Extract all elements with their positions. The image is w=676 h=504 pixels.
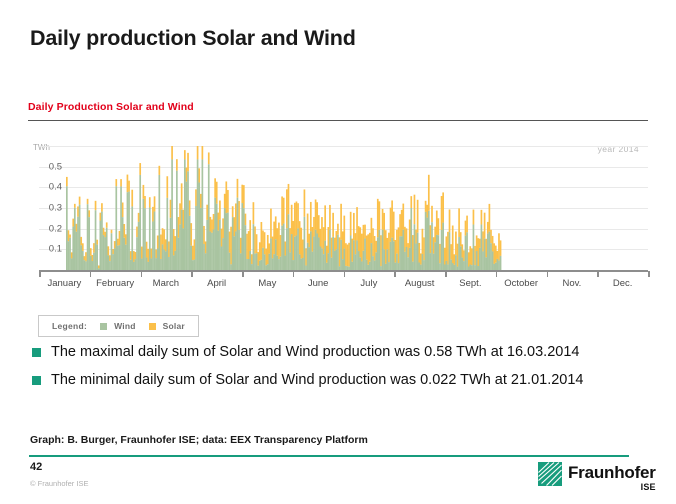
x-axis-tick	[547, 271, 549, 277]
y-axis-tick-label: 0.1	[28, 244, 62, 255]
x-axis-month-label: October	[504, 278, 538, 289]
x-axis-month-label: Nov.	[562, 278, 581, 289]
fraunhofer-logo-mark-icon	[538, 462, 562, 486]
bullet-list: The maximal daily sum of Solar and Wind …	[32, 343, 642, 399]
legend-label-solar: Solar	[163, 321, 185, 331]
chart-title: Daily Production Solar and Wind	[28, 101, 648, 114]
bullet-square-icon	[32, 348, 41, 357]
list-item: The maximal daily sum of Solar and Wind …	[32, 343, 642, 362]
x-axis-tick	[445, 271, 447, 277]
y-axis-tick-label: 0.2	[28, 223, 62, 234]
x-axis-tick	[394, 271, 396, 277]
x-axis-tick	[191, 271, 193, 277]
bullet-square-icon	[32, 376, 41, 385]
source-note: Graph: B. Burger, Fraunhofer ISE; data: …	[30, 434, 368, 446]
x-axis-tick	[90, 271, 92, 277]
x-axis-month-label: February	[96, 278, 134, 289]
legend-label: Legend:	[52, 321, 87, 331]
y-axis-tick-label: 0.5	[28, 161, 62, 172]
x-axis-tick	[141, 271, 143, 277]
page-number: 42	[30, 461, 42, 473]
legend-item-solar: Solar	[149, 321, 185, 331]
fraunhofer-logo: Fraunhofer ISE	[538, 462, 656, 492]
x-axis-tick	[39, 271, 41, 277]
x-axis-tick	[293, 271, 295, 277]
footer-divider	[29, 455, 629, 457]
fraunhofer-institute-label: ISE	[568, 482, 656, 492]
x-axis-tick	[597, 271, 599, 277]
x-axis-tick	[344, 271, 346, 277]
copyright-notice: © Fraunhofer ISE	[30, 479, 88, 488]
x-axis-month-label: May	[258, 278, 276, 289]
x-axis-tick	[648, 271, 650, 277]
legend-label-wind: Wind	[114, 321, 136, 331]
chart-data-area	[66, 146, 648, 270]
x-axis-month-label: March	[153, 278, 179, 289]
x-axis-month-label: June	[308, 278, 329, 289]
bullet-text-min: The minimal daily sum of Solar and Wind …	[51, 371, 584, 390]
x-axis-month-label: July	[360, 278, 377, 289]
bullet-text-max: The maximal daily sum of Solar and Wind …	[51, 343, 579, 362]
x-axis-month-label: Sept.	[459, 278, 481, 289]
chart-title-rule	[28, 120, 648, 121]
chart-series-canvas	[66, 146, 648, 270]
page-title: Daily production Solar and Wind	[30, 26, 356, 51]
y-axis-tick-label: 0.3	[28, 203, 62, 214]
x-axis-month-label: January	[47, 278, 81, 289]
chart-legend: Legend: Wind Solar	[38, 315, 199, 337]
x-axis-tick	[242, 271, 244, 277]
y-axis-unit-label: TWh	[33, 143, 50, 152]
fraunhofer-logo-text: Fraunhofer ISE	[568, 462, 656, 492]
x-axis-tick	[496, 271, 498, 277]
chart-plot-wrapper: TWh year 2014 0.10.20.30.40.5 JanuaryFeb…	[28, 127, 648, 295]
legend-swatch-wind	[100, 323, 107, 330]
legend-swatch-solar	[149, 323, 156, 330]
y-axis-tick-label: 0.4	[28, 182, 62, 193]
x-axis-month-label: August	[405, 278, 435, 289]
chart-block: Daily Production Solar and Wind TWh year…	[28, 101, 648, 296]
fraunhofer-wordmark: Fraunhofer	[568, 463, 656, 482]
x-axis-month-label: Dec.	[613, 278, 633, 289]
x-axis-month-label: April	[207, 278, 226, 289]
list-item: The minimal daily sum of Solar and Wind …	[32, 371, 642, 390]
legend-item-wind: Wind	[100, 321, 136, 331]
